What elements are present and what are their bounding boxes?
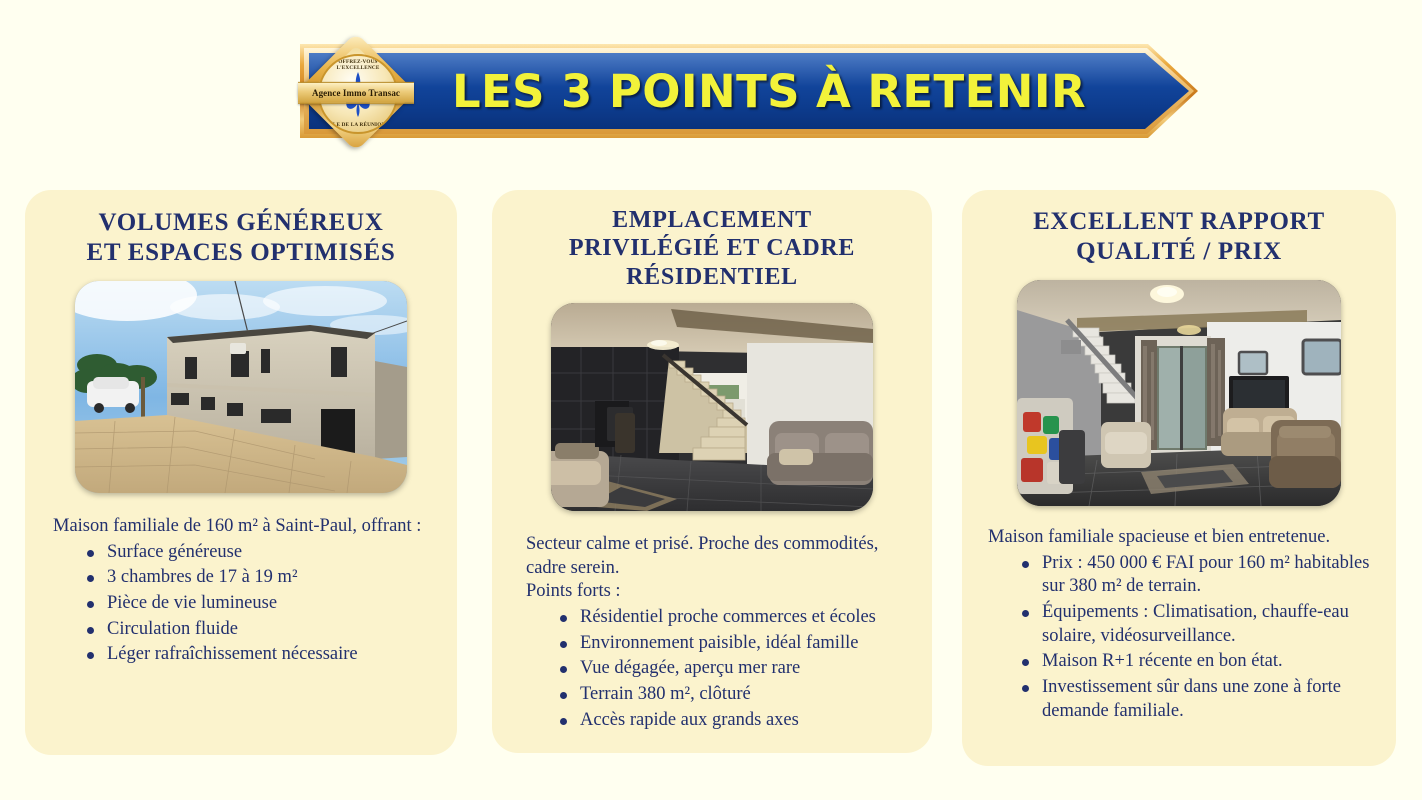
- sofa-left: [551, 443, 609, 507]
- card-2-body: Secteur calme et prisé. Proche des commo…: [526, 533, 932, 732]
- card-1-body: Maison familiale de 160 m² à Saint-Paul,…: [53, 515, 457, 667]
- point-card-2: EMPLACEMENT PRIVILÉGIÉ ET CADRE RÉSIDENT…: [492, 190, 932, 753]
- list-item: Circulation fluide: [87, 618, 443, 642]
- point-card-3: EXCELLENT RAPPORT QUALITÉ / PRIX: [962, 190, 1396, 766]
- list-item: Accès rapide aux grands axes: [560, 709, 922, 733]
- list-item: Vue dégagée, aperçu mer rare: [560, 657, 922, 681]
- list-item: Maison R+1 récente en bon état.: [1022, 650, 1382, 674]
- card-2-bullets: Résidentiel proche commerces et écoles E…: [526, 606, 922, 732]
- card-3-photo: [1017, 280, 1341, 506]
- card-3-title: EXCELLENT RAPPORT QUALITÉ / PRIX: [962, 207, 1396, 266]
- living-room-staircase-illustration: [551, 303, 873, 511]
- point-card-1: VOLUMES GÉNÉREUX ET ESPACES OPTIMISÉS: [25, 190, 457, 755]
- list-item: Équipements : Climatisation, chauffe-eau…: [1022, 601, 1382, 648]
- list-item: Terrain 380 m², clôturé: [560, 683, 922, 707]
- list-item: Léger rafraîchissement nécessaire: [87, 643, 443, 667]
- card-2-intro: Secteur calme et prisé. Proche des commo…: [526, 533, 922, 604]
- logo-location-text: ÎLE DE LA RÉUNION: [320, 122, 396, 128]
- list-item: 3 chambres de 17 à 19 m²: [87, 566, 443, 590]
- agency-logo: OFFREZ-VOUS L'EXCELLENCE ÎLE DE LA RÉUNI…: [296, 32, 416, 152]
- points-cards-row: VOLUMES GÉNÉREUX ET ESPACES OPTIMISÉS: [0, 190, 1422, 790]
- slide-root: LES 3 POINTS À RETENIR OFFREZ-VOUS L'EXC…: [0, 0, 1422, 800]
- list-item: Pièce de vie lumineuse: [87, 592, 443, 616]
- banner-inner-fill: LES 3 POINTS À RETENIR: [309, 53, 1189, 129]
- list-item: Prix : 450 000 € FAI pour 160 m² habitab…: [1022, 552, 1382, 599]
- house-exterior-illustration: [75, 281, 407, 493]
- recliner-brown: [1269, 420, 1341, 488]
- card-1-intro: Maison familiale de 160 m² à Saint-Paul,…: [53, 515, 443, 539]
- card-1-title: VOLUMES GÉNÉREUX ET ESPACES OPTIMISÉS: [25, 208, 457, 267]
- title-banner: LES 3 POINTS À RETENIR: [300, 44, 1198, 138]
- list-item: Investissement sûr dans une zone à forte…: [1022, 676, 1382, 723]
- card-1-photo: [75, 281, 407, 493]
- card-2-photo: [551, 303, 873, 511]
- card-2-title: EMPLACEMENT PRIVILÉGIÉ ET CADRE RÉSIDENT…: [492, 206, 932, 291]
- sofa-under-stairs: [1101, 422, 1151, 468]
- sofa-right: [767, 421, 873, 485]
- list-item: Surface généreuse: [87, 541, 443, 565]
- card-3-bullets: Prix : 450 000 € FAI pour 160 m² habitab…: [988, 552, 1382, 724]
- slide-header: LES 3 POINTS À RETENIR OFFREZ-VOUS L'EXC…: [0, 0, 1422, 180]
- logo-ribbon: Agence Immo Transac: [298, 82, 414, 104]
- agency-name: Agence Immo Transac: [312, 88, 400, 98]
- list-item: Environnement paisible, idéal famille: [560, 632, 922, 656]
- card-3-body: Maison familiale spacieuse et bien entre…: [988, 526, 1396, 723]
- living-room-wide-illustration: [1017, 280, 1341, 506]
- list-item: Résidentiel proche commerces et écoles: [560, 606, 922, 630]
- page-title: LES 3 POINTS À RETENIR: [382, 65, 1116, 118]
- card-3-intro: Maison familiale spacieuse et bien entre…: [988, 526, 1382, 550]
- card-1-bullets: Surface généreuse 3 chambres de 17 à 19 …: [53, 541, 443, 667]
